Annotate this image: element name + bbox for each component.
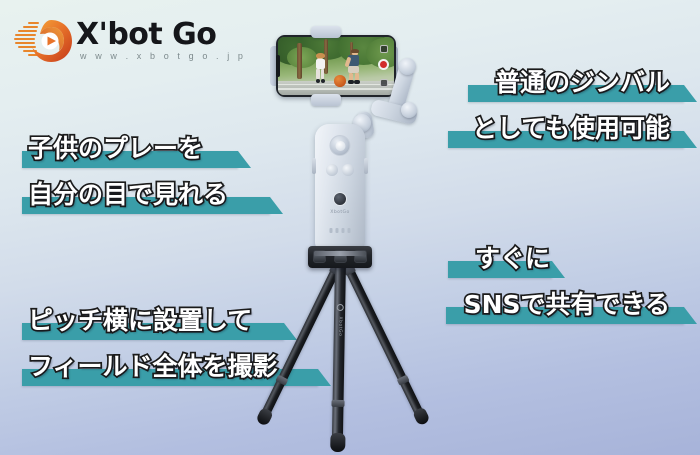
callout-text: としても使用可能 (472, 114, 670, 144)
handle-brand-label: XbotGo (330, 210, 349, 215)
poster-canvas: X'bot Go w w w . x b o t g o . j p 子供のプレ… (0, 0, 700, 455)
side-button-right[interactable] (364, 158, 368, 174)
callout-text: SNSで共有できる (464, 290, 670, 320)
screen-ui-chip (380, 45, 388, 53)
record-button[interactable] (333, 192, 347, 206)
callout-text: 自分の目で見れる (28, 180, 228, 210)
mode-button[interactable] (326, 164, 338, 176)
callout-text: すぐに (475, 244, 550, 274)
tripod-knob-center[interactable] (334, 250, 347, 263)
person-adult (344, 50, 364, 85)
recording-indicator-icon (378, 59, 389, 70)
callout-text: ピッチ横に設置して (28, 306, 252, 336)
brand-url: w w w . x b o t g o . j p (80, 51, 246, 61)
screen-ui-chip (380, 79, 388, 87)
brand-name: X'bot Go (76, 18, 216, 52)
tripod-knob-left[interactable] (313, 250, 326, 263)
tripod-knob-right[interactable] (354, 250, 367, 263)
tripod-leg-center: XbotGo (332, 262, 346, 448)
smartphone (276, 35, 396, 97)
shutter-button[interactable] (342, 164, 354, 176)
battery-leds (330, 228, 351, 233)
gimbal-handle[interactable]: XbotGo (315, 124, 365, 252)
phone-clamp-top (311, 26, 341, 38)
tripod-head (308, 246, 372, 268)
gimbal-joint-tilt (399, 58, 416, 75)
phone-notch (276, 55, 280, 77)
brand-logo: X'bot Go w w w . x b o t g o . j p (14, 14, 214, 68)
callout-text: 子供のプレーを (28, 134, 203, 164)
product-image: XbotGo XbotGo (253, 18, 453, 442)
person-child (313, 54, 328, 84)
gimbal-joint-roll (401, 102, 417, 118)
phone-clamp-bottom (311, 94, 341, 106)
tripod-brand-label: XbotGo (337, 316, 342, 336)
tripod-leg-right (341, 260, 426, 422)
screen-scene-basketball (278, 37, 394, 95)
xbotgo-swirl-icon (28, 18, 74, 64)
tripod-leg-left (258, 260, 343, 422)
side-button-left[interactable] (312, 158, 316, 174)
callout-text: 普通のジンバル (495, 68, 670, 98)
joystick-control[interactable] (330, 135, 351, 156)
callout-text: フィールド全体を撮影 (28, 352, 278, 382)
phone-screen (278, 37, 394, 95)
